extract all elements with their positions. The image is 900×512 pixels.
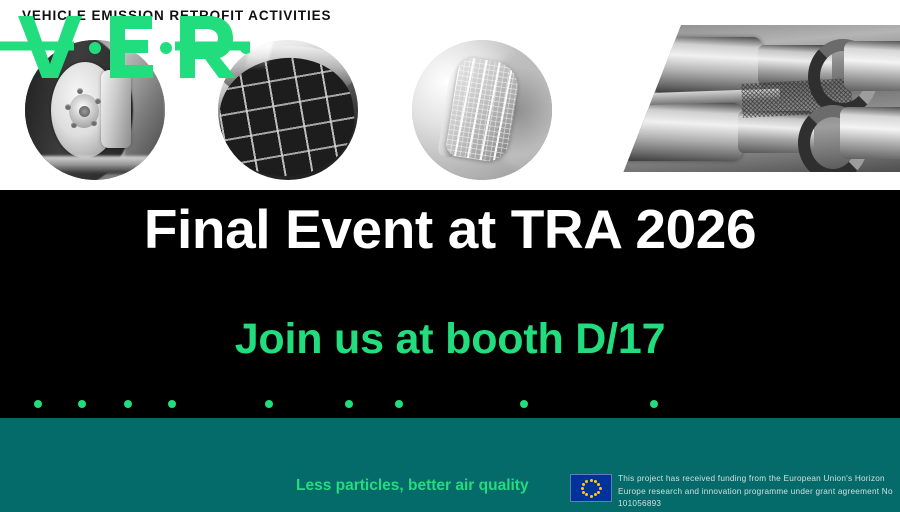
divider-dot <box>395 400 403 408</box>
eu-flag-star <box>582 483 585 486</box>
catalytic-converter-photo <box>612 25 900 172</box>
eu-flag-star <box>585 480 588 483</box>
lug-nut <box>91 120 97 126</box>
lug-nut <box>65 104 71 110</box>
eu-flag-star <box>599 487 602 490</box>
logo-dot-2 <box>160 42 172 54</box>
eu-flag-star <box>594 480 597 483</box>
page-title: Final Event at TRA 2026 <box>0 202 900 257</box>
lug-nut <box>77 88 83 94</box>
exhaust-tailpipe <box>844 41 900 91</box>
eu-flag-star <box>590 495 593 498</box>
dot-divider <box>0 400 900 412</box>
logo-letter-e <box>110 16 153 78</box>
lug-nut <box>95 98 101 104</box>
logo-dot-1 <box>89 42 101 54</box>
eu-flag-star <box>597 491 600 494</box>
eu-funding-statement: This project has received funding from t… <box>618 473 898 511</box>
eu-flag-star <box>594 493 597 496</box>
brand-tagline: Less particles, better air quality <box>296 477 529 495</box>
brake-pad-photo <box>412 40 552 180</box>
eu-flag-star <box>582 491 585 494</box>
divider-dot <box>168 400 176 408</box>
eu-flag-star <box>585 493 588 496</box>
divider-dot <box>78 400 86 408</box>
converter-canister <box>622 103 742 161</box>
divider-dot <box>124 400 132 408</box>
eu-flag-star <box>590 479 593 482</box>
divider-dot <box>34 400 42 408</box>
exhaust-tailpipe <box>840 107 900 159</box>
eu-flag-icon <box>570 474 612 502</box>
divider-dot <box>265 400 273 408</box>
booth-callout: Join us at booth D/17 <box>0 318 900 361</box>
vera-logo <box>0 8 250 82</box>
main-message-section: Final Event at TRA 2026 Join us at booth… <box>0 190 900 418</box>
divider-dot <box>345 400 353 408</box>
lug-nut <box>71 122 77 128</box>
divider-dot <box>520 400 528 408</box>
poster-root: VEHICLE EMISSION RETROFIT ACTIVITIES <box>0 0 900 512</box>
eu-flag-star <box>581 487 584 490</box>
eu-flag-star <box>597 483 600 486</box>
logo-letter-r <box>180 16 236 78</box>
brake-floor-shadow <box>25 156 165 174</box>
divider-dot <box>650 400 658 408</box>
